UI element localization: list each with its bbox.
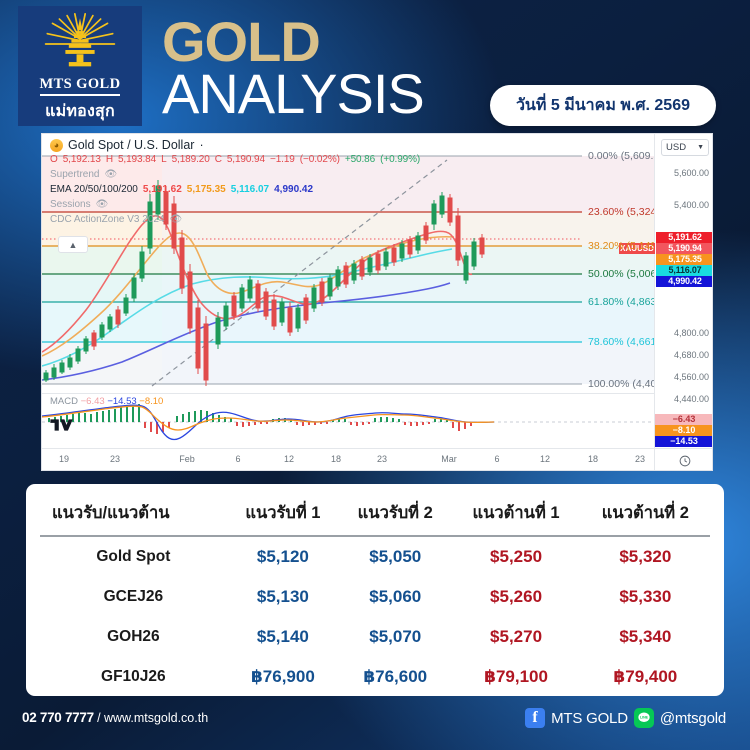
time-tick: 18	[331, 454, 341, 464]
support-resistance-table: แนวรับ/แนวต้าน แนวรับที่ 1 แนวรับที่ 2 แ…	[26, 484, 724, 696]
line-icon[interactable]: LINE	[634, 708, 654, 728]
cell-support-2: $5,050	[339, 536, 451, 577]
price-chip-ema50: 5,175.35	[656, 254, 713, 265]
social-links: f MTS GOLD LINE @mtsgold	[525, 708, 726, 728]
clock-icon[interactable]	[654, 449, 713, 471]
table-row: Gold Spot $5,120 $5,050 $5,250 $5,320	[40, 536, 710, 577]
brand-logo: MTS GOLD แม่ทองสุก	[18, 6, 142, 126]
ohlc-change-pct: (−0.02%)	[300, 153, 340, 167]
row-label: GF10J26	[40, 657, 227, 697]
macd-pane[interactable]: MACD −6.43 −14.53 −8.10	[42, 393, 654, 448]
col-header-resistance-1: แนวต้านที่ 1	[451, 494, 580, 536]
cell-support-2: $5,070	[339, 617, 451, 657]
macd-chip-macd: −14.53	[655, 436, 713, 447]
page-footer: 02 770 7777 / www.mtsgold.co.th f MTS GO…	[0, 696, 750, 750]
ohlc-change2: +50.86	[345, 153, 375, 167]
price-tick: 4,800.00	[674, 328, 709, 338]
fib-level-786: 78.60% (4,661.12)	[588, 336, 654, 348]
time-tick: 23	[110, 454, 120, 464]
cell-support-1: $5,130	[227, 577, 339, 617]
price-chip-ema100: 5,116.07	[656, 265, 713, 276]
price-chip-last: 5,190.94	[656, 243, 713, 254]
ema-50-value: 5,175.35	[187, 183, 226, 197]
col-header-instrument: แนวรับ/แนวต้าน	[40, 494, 227, 536]
indicator-sessions[interactable]: Sessions 👁︎	[50, 198, 420, 212]
ohlc-close-label: C	[215, 153, 222, 167]
row-label: GCEJ26	[40, 577, 227, 617]
time-tick: 23	[377, 454, 387, 464]
eye-off-icon[interactable]: 👁︎	[96, 198, 109, 212]
col-header-resistance-2: แนวต้านที่ 2	[581, 494, 710, 536]
collapse-pane-button[interactable]: ▲	[58, 236, 88, 253]
symbol-name: Gold Spot / U.S. Dollar	[68, 138, 194, 152]
fib-level-236: 23.60% (5,324.76)	[588, 206, 654, 218]
phone-number: 02 770 7777	[22, 710, 94, 725]
price-chip-ema20: 5,191.62	[656, 232, 713, 243]
ema-label: EMA 20/50/100/200	[50, 183, 138, 197]
price-tick: 4,560.00	[674, 372, 709, 382]
currency-selector[interactable]: USD ▼	[661, 139, 709, 156]
fib-level-618: 61.80% (4,863.83)	[588, 296, 654, 308]
ohlc-open-label: O	[50, 153, 58, 167]
cell-support-1: $5,140	[227, 617, 339, 657]
ohlc-high-label: H	[106, 153, 113, 167]
table-row: GCEJ26 $5,130 $5,060 $5,260 $5,330	[40, 577, 710, 617]
macd-chip-hist: −6.43	[655, 414, 713, 425]
indicator-cdc-actionzone[interactable]: CDC ActionZone V3 2024 👁︎	[50, 213, 420, 227]
gold-coin-icon: ◕	[50, 139, 63, 152]
cell-resistance-1: ฿79,100	[451, 657, 580, 697]
macd-legend: MACD −6.43 −14.53 −8.10	[50, 396, 163, 407]
table-header-row: แนวรับ/แนวต้าน แนวรับที่ 1 แนวรับที่ 2 แ…	[40, 494, 710, 536]
price-tick: 5,600.00	[674, 168, 709, 178]
indicator-ema[interactable]: EMA 20/50/100/200 5,191.62 5,175.35 5,11…	[50, 183, 420, 197]
macd-name: MACD	[50, 396, 78, 407]
symbol-suffix: ·	[199, 138, 203, 152]
price-scale[interactable]: USD ▼ 5,600.00 5,400.00 4,800.00 4,680.0…	[654, 134, 713, 448]
row-label: Gold Spot	[40, 536, 227, 577]
symbol-row[interactable]: ◕ Gold Spot / U.S. Dollar ·	[50, 138, 420, 152]
currency-value: USD	[666, 142, 686, 153]
fib-level-50: 50.00% (5,006.22)	[588, 268, 654, 280]
time-tick: 6	[494, 454, 499, 464]
fib-level-382: 38.20% (5,148.60)	[588, 240, 654, 252]
time-tick: 19	[59, 454, 69, 464]
eye-off-icon[interactable]: 👁︎	[170, 213, 183, 227]
facebook-icon[interactable]: f	[525, 708, 545, 728]
fib-level-100: 100.00% (4,402.90)	[588, 378, 654, 390]
cell-resistance-2: $5,330	[581, 577, 710, 617]
cell-resistance-2: ฿79,400	[581, 657, 710, 697]
ohlc-low: 5,189.20	[172, 153, 210, 167]
ohlc-row: O5,192.13 H5,193.84 L5,189.20 C5,190.94 …	[50, 153, 420, 167]
date-badge: วันที่ 5 มีนาคม พ.ศ. 2569	[490, 85, 716, 126]
website-url[interactable]: www.mtsgold.co.th	[104, 711, 208, 725]
table-row: GOH26 $5,140 $5,070 $5,270 $5,340	[40, 617, 710, 657]
time-tick: 12	[284, 454, 294, 464]
time-tick: Feb	[179, 454, 195, 464]
time-tick: 23	[635, 454, 645, 464]
ohlc-open: 5,192.13	[63, 153, 101, 167]
table-row: GF10J26 ฿76,900 ฿76,600 ฿79,100 ฿79,400	[40, 657, 710, 697]
macd-hist-value: −6.43	[81, 396, 105, 407]
time-tick: 12	[540, 454, 550, 464]
cell-resistance-1: $5,250	[451, 536, 580, 577]
cell-resistance-2: $5,340	[581, 617, 710, 657]
price-chip-ema200: 4,990.42	[656, 276, 713, 287]
chart-legend: ◕ Gold Spot / U.S. Dollar · O5,192.13 H5…	[50, 138, 420, 228]
chart-plot-area[interactable]: ◕ Gold Spot / U.S. Dollar · O5,192.13 H5…	[42, 134, 654, 392]
line-name[interactable]: @mtsgold	[660, 710, 726, 727]
cell-support-2: ฿76,600	[339, 657, 451, 697]
row-label: GOH26	[40, 617, 227, 657]
price-tick: 4,680.00	[674, 350, 709, 360]
time-axis[interactable]: 19 23 Feb 6 12 18 23 Mar 6 12 18 23	[42, 448, 713, 471]
eye-off-icon[interactable]: 👁︎	[104, 168, 117, 182]
separator: /	[97, 711, 100, 725]
ema-200-value: 4,990.42	[274, 183, 313, 197]
levels-table: แนวรับ/แนวต้าน แนวรับที่ 1 แนวรับที่ 2 แ…	[40, 494, 710, 697]
ohlc-close: 5,190.94	[227, 153, 265, 167]
col-header-support-2: แนวรับที่ 2	[339, 494, 451, 536]
indicator-supertrend[interactable]: Supertrend 👁︎	[50, 168, 420, 182]
tradingview-chart[interactable]: ◕ Gold Spot / U.S. Dollar · O5,192.13 H5…	[41, 133, 713, 471]
ema-100-value: 5,116.07	[231, 183, 269, 197]
contact-line: 02 770 7777 / www.mtsgold.co.th	[22, 710, 208, 725]
cell-support-1: ฿76,900	[227, 657, 339, 697]
ohlc-low-label: L	[161, 153, 166, 167]
time-tick: 6	[235, 454, 240, 464]
col-header-support-1: แนวรับที่ 1	[227, 494, 339, 536]
ema-20-value: 5,191.62	[143, 183, 182, 197]
macd-line-value: −14.53	[107, 396, 136, 407]
cell-support-1: $5,120	[227, 536, 339, 577]
brand-name-th: แม่ทองสุก	[45, 99, 115, 124]
time-tick: 18	[588, 454, 598, 464]
ohlc-change2-pct: (+0.99%)	[380, 153, 420, 167]
price-tick: 5,400.00	[674, 200, 709, 210]
price-tick: 4,440.00	[674, 394, 709, 404]
page-header: MTS GOLD แม่ทองสุก GOLD ANALYSIS วันที่ …	[0, 0, 750, 132]
ohlc-high: 5,193.84	[118, 153, 156, 167]
cell-resistance-1: $5,270	[451, 617, 580, 657]
ohlc-change: −1.19	[270, 153, 295, 167]
time-tick: Mar	[441, 454, 457, 464]
facebook-name[interactable]: MTS GOLD	[551, 710, 628, 727]
cell-resistance-2: $5,320	[581, 536, 710, 577]
cell-resistance-1: $5,260	[451, 577, 580, 617]
macd-chip-signal: −8.10	[655, 425, 713, 436]
chevron-down-icon: ▼	[697, 144, 704, 151]
svg-text:LINE: LINE	[640, 716, 649, 720]
brand-name-en: MTS GOLD	[40, 76, 121, 96]
tradingview-logo	[50, 418, 76, 432]
cell-support-2: $5,060	[339, 577, 451, 617]
pagoda-rays-icon	[37, 13, 123, 75]
macd-signal-value: −8.10	[139, 396, 163, 407]
page-title-analysis: ANALYSIS	[162, 66, 424, 122]
fib-level-0: 0.00% (5,609.53)	[588, 150, 654, 162]
